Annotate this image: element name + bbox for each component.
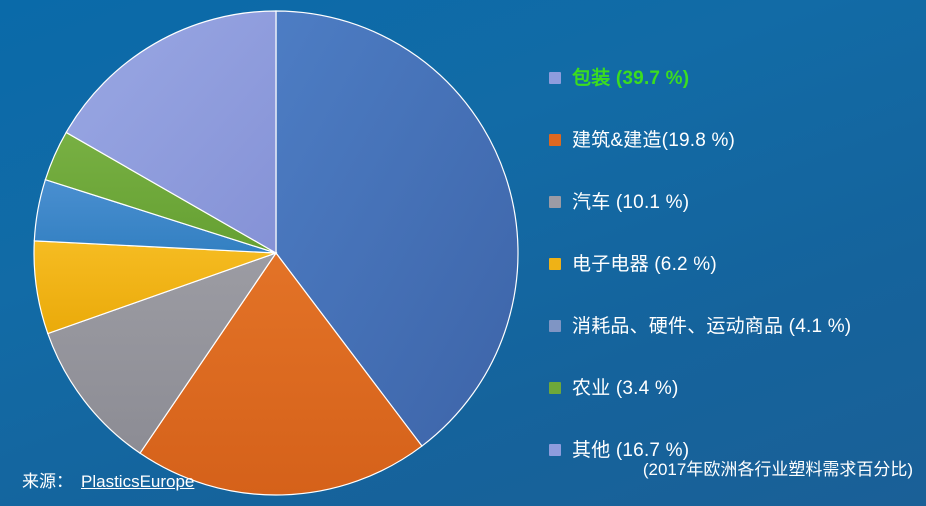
chart-canvas: 包装 (39.7 %) 建筑&建造(19.8 %) 汽车 (10.1 %) 电子… (0, 0, 926, 506)
legend-item-packaging[interactable]: 包装 (39.7 %) (549, 64, 689, 92)
legend-item-electrical-electronic[interactable]: 电子电器 (6.2 %) (549, 250, 717, 278)
legend-item-building-construction[interactable]: 建筑&建造(19.8 %) (549, 126, 735, 154)
source-link[interactable]: PlasticsEurope (81, 472, 194, 491)
legend-label-building-construction: 建筑&建造(19.8 %) (572, 131, 735, 150)
source-label: 来源： (22, 472, 73, 491)
legend-label-automotive: 汽车 (10.1 %) (572, 193, 689, 212)
chart-legend: 包装 (39.7 %) 建筑&建造(19.8 %) 汽车 (10.1 %) 电子… (549, 20, 921, 450)
legend-swatch-building-construction (549, 134, 561, 146)
chart-caption: (2017年欧洲各行业塑料需求百分比) (643, 455, 913, 480)
legend-swatch-automotive (549, 196, 561, 208)
source-note: 来源：PlasticsEurope (22, 467, 194, 492)
pie-slice-group (34, 11, 518, 495)
legend-item-consumer-household-sports[interactable]: 消耗品、硬件、运动商品 (4.1 %) (549, 312, 851, 340)
legend-label-agriculture: 农业 (3.4 %) (572, 379, 679, 398)
legend-label-packaging: 包装 (39.7 %) (572, 69, 689, 88)
legend-label-consumer-household-sports: 消耗品、硬件、运动商品 (4.1 %) (572, 317, 851, 336)
legend-swatch-agriculture (549, 382, 561, 394)
legend-swatch-electrical-electronic (549, 258, 561, 270)
legend-item-automotive[interactable]: 汽车 (10.1 %) (549, 188, 689, 216)
legend-swatch-packaging (549, 72, 561, 84)
legend-swatch-consumer-household-sports (549, 320, 561, 332)
legend-label-electrical-electronic: 电子电器 (6.2 %) (572, 255, 717, 274)
legend-item-agriculture[interactable]: 农业 (3.4 %) (549, 374, 679, 402)
pie-chart-svg (33, 9, 519, 497)
legend-swatch-others (549, 444, 561, 456)
pie-chart (33, 9, 519, 497)
